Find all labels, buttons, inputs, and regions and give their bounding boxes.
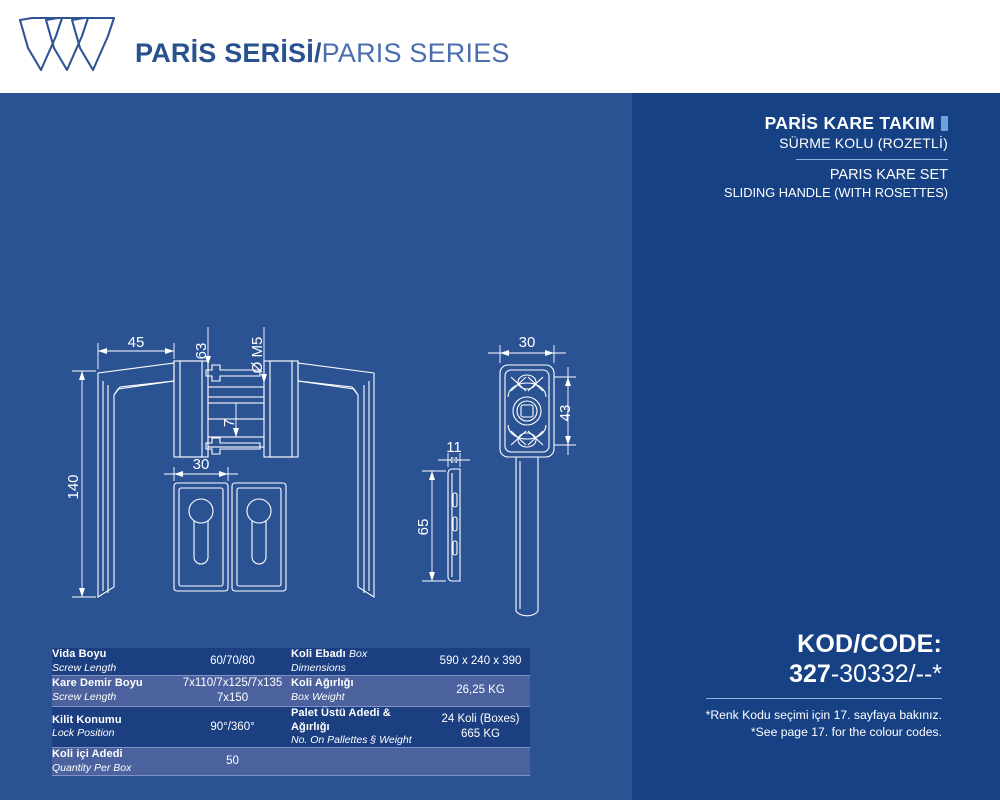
spec-label: Koli Ağırlığı Box Weight — [291, 675, 431, 706]
spec-label: Kare Demir Boyu Screw Length — [52, 675, 174, 706]
spec-label: Koli Ebadı Box Dimensions — [291, 648, 431, 675]
spec-label-en: Screw Length — [52, 691, 174, 704]
spec-label: Vida Boyu Screw Length — [52, 648, 174, 675]
product-title-en: PARIS KARE SET — [724, 166, 948, 185]
spec-value: 7x110/7x125/7x1357x150 — [174, 675, 291, 706]
product-title-tr: PARİS KARE TAKIM — [724, 113, 948, 133]
dim-45: 45 — [128, 334, 145, 351]
spec-label-tr: Kilit Konumu — [52, 714, 122, 726]
table-row: Kilit Konumu Lock Position 90°/360° Pale… — [52, 706, 530, 748]
spec-label-tr: Koli Ağırlığı — [291, 677, 354, 689]
vv-hexagon-logo-icon — [16, 14, 134, 78]
accent-bar-icon — [941, 116, 948, 131]
dim-30-top: 30 — [519, 334, 536, 351]
spec-label-empty — [291, 748, 431, 776]
spec-label-en: Dimensions — [291, 662, 431, 675]
spec-label-tr: Koli Ebadı — [291, 648, 346, 660]
dim-43: 43 — [557, 405, 574, 422]
code-suffix: -30332/--* — [831, 660, 942, 688]
spec-value: 50 — [174, 748, 291, 776]
code-note-en: *See page 17. for the colour codes. — [706, 724, 942, 742]
table-row: Koli içi Adedi Quantity Per Box 50 — [52, 748, 530, 776]
code-value: 327-30332/--* — [706, 659, 942, 689]
page-header: PARİS SERİSİ/PARIS SERIES — [0, 0, 1000, 93]
spec-label-en: Quantity Per Box — [52, 762, 174, 775]
spec-label-tr: Kare Demir Boyu — [52, 677, 143, 689]
product-title-block: PARİS KARE TAKIM SÜRME KOLU (ROZETLİ) PA… — [724, 113, 948, 202]
spec-value: 90°/360° — [174, 706, 291, 748]
spec-label: Palet Üstü Adedi & Ağırlığı No. On Palle… — [291, 706, 431, 748]
spec-label-en: No. On Pallettes § Weight — [291, 734, 431, 747]
spec-label-tr: Vida Boyu — [52, 648, 107, 660]
spec-label-tr: Palet Üstü Adedi & Ağırlığı — [291, 707, 391, 733]
page-title-tr: PARİS SERİSİ/ — [135, 38, 322, 68]
spec-value: 24 Koli (Boxes)665 KG — [431, 706, 530, 748]
spec-label-en: Box Weight — [291, 691, 431, 704]
spec-value-empty — [431, 748, 530, 776]
dim-11: 11 — [446, 439, 462, 456]
title-divider — [796, 159, 948, 160]
spec-label: Kilit Konumu Lock Position — [52, 706, 174, 748]
spec-label-en: Lock Position — [52, 727, 174, 740]
technical-drawing: 45 63 Ø M5 7 140 30 30 43 11 65 — [56, 325, 576, 635]
table-row: Vida Boyu Screw Length 60/70/80 Koli Eba… — [52, 648, 530, 675]
product-title-tr-text: PARİS KARE TAKIM — [765, 113, 935, 133]
table-row: Kare Demir Boyu Screw Length 7x110/7x125… — [52, 675, 530, 706]
page-title: PARİS SERİSİ/PARIS SERIES — [135, 40, 510, 67]
product-subtitle-tr: SÜRME KOLU (ROZETLİ) — [724, 134, 948, 152]
code-heading: KOD/CODE: — [706, 630, 942, 659]
dim-m5: Ø M5 — [249, 337, 266, 374]
spec-value: 26,25 KG — [431, 675, 530, 706]
dim-30-front: 30 — [193, 456, 210, 473]
catalog-page: PARİS SERİSİ/PARIS SERIES — [0, 0, 1000, 800]
specification-table: Vida Boyu Screw Length 60/70/80 Koli Eba… — [52, 648, 530, 776]
left-panel: 45 63 Ø M5 7 140 30 30 43 11 65 Vida Boy… — [0, 93, 628, 800]
dim-7: 7 — [221, 419, 238, 427]
spec-label: Koli içi Adedi Quantity Per Box — [52, 748, 174, 776]
code-divider — [706, 698, 942, 699]
right-panel: PARİS KARE TAKIM SÜRME KOLU (ROZETLİ) PA… — [632, 93, 1000, 800]
code-note-tr: *Renk Kodu seçimi için 17. sayfaya bakın… — [706, 707, 942, 725]
product-subtitle-en: SLIDING HANDLE (WITH ROSETTES) — [724, 185, 948, 202]
spec-label-en: Screw Length — [52, 662, 174, 675]
spec-label-tr: Koli içi Adedi — [52, 748, 123, 760]
spec-value: 590 x 240 x 390 — [431, 648, 530, 675]
code-prefix: 327 — [789, 660, 831, 688]
product-code-block: KOD/CODE: 327-30332/--* *Renk Kodu seçim… — [706, 630, 942, 742]
spec-label-inline: Box — [349, 648, 367, 660]
dim-65: 65 — [415, 519, 432, 536]
dim-140: 140 — [65, 474, 82, 499]
dim-63: 63 — [193, 343, 210, 360]
spec-value: 60/70/80 — [174, 648, 291, 675]
page-title-en: PARIS SERIES — [322, 38, 510, 68]
